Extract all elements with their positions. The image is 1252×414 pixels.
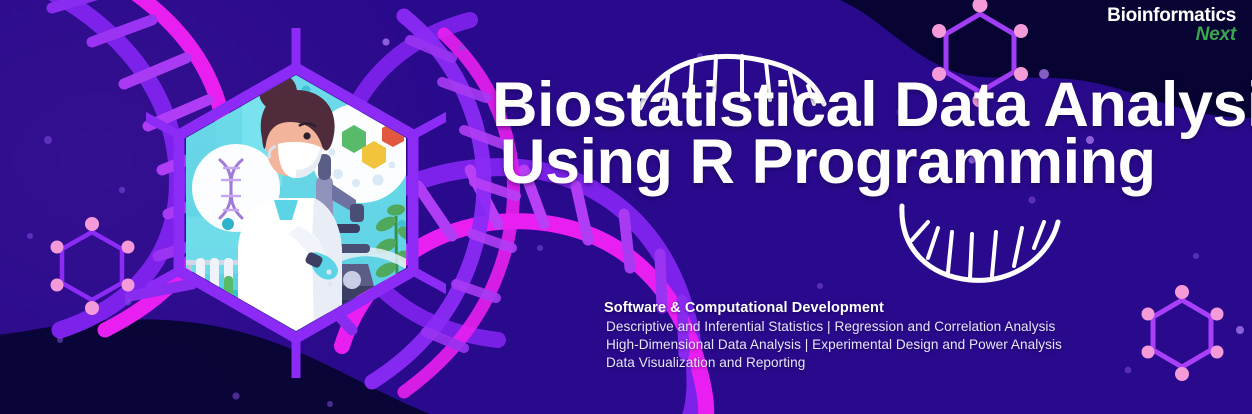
subtitle-line-2: High-Dimensional Data Analysis | Experim… (604, 336, 1224, 354)
title-block: Biostatistical Data Analysis Using R Pro… (492, 78, 1237, 189)
subtitle-heading: Software & Computational Development (604, 300, 1224, 316)
course-banner: Biostatistical Data Analysis Using R Pro… (0, 0, 1252, 414)
subtitle-line-3: Data Visualization and Reporting (604, 354, 1224, 372)
subtitle-block: Software & Computational Development Des… (604, 300, 1224, 372)
title-line-1: Biostatistical Data Analysis (492, 78, 1237, 132)
logo-sub-text: Next (1107, 25, 1236, 45)
logo-main-text: Bioinformatics (1107, 6, 1236, 26)
title-line-2: Using R Programming (500, 135, 1237, 189)
brand-logo[interactable]: Bioinformatics Next (1107, 6, 1236, 45)
subtitle-line-1: Descriptive and Inferential Statistics |… (604, 318, 1224, 336)
